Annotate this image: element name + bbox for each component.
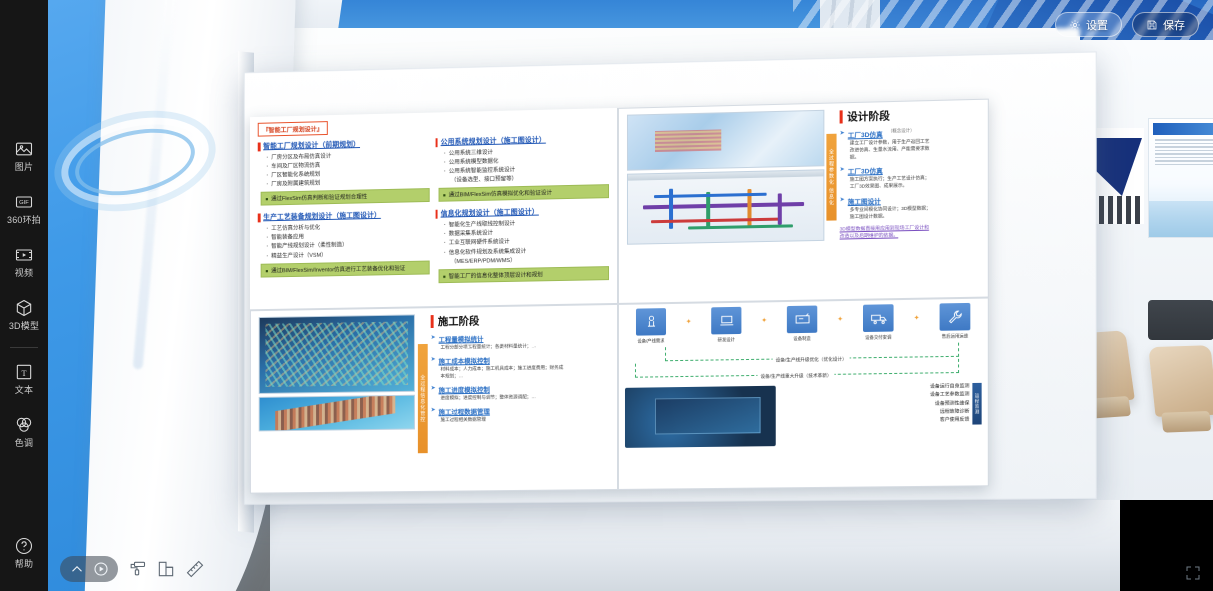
hand-gear-icon [636,308,666,336]
highlight-conclusion: 通过BIM/FlexSim/Inventor仿真进行工艺装备优化和验证 [261,260,430,277]
rail-divider [10,347,38,348]
lounge-chair [1148,345,1213,417]
quadrant-lifecycle-flow[interactable]: 设备/产线需求 ✦ 研发设计 ✦ 设备制造 ✦ [618,298,989,490]
wrench-icon [940,303,971,331]
flow-node[interactable]: 设备/产线需求 [629,308,673,345]
plus-icon: ✦ [686,318,692,326]
block-smart-factory-planning[interactable]: 智能工厂规划设计（前期规划） 厂房分区及布局仿真设计 车间及厂区物流仿真 厂区智… [258,138,429,206]
block-heading: 信息化规划设计（施工图设计） [441,207,539,219]
accent-bar [258,213,261,222]
pipe-network-graphic [632,178,819,239]
design-step: ➤ 施工图设计 多专业间模化协同设计；3D模型数据；施工图设计数据。 [840,194,934,220]
bullet-list: 厂房分区及布局仿真设计 车间及厂区物流仿真 厂区智能化系统规划 厂房及附属建筑规… [266,151,429,191]
sidebar-item-label: 色调 [0,439,48,448]
wall-poster-document [1148,118,1213,238]
arrow-icon: ➤ [431,386,436,392]
flow-node[interactable]: 设备交付安调 [856,304,901,341]
step-body: 材料成本；人力成本；施工机具成本；施工进度费用；财务成本规划；… [441,364,568,380]
settings-button[interactable]: 设置 [1055,12,1122,37]
feedback-loop-optimize: 设备/生产线升级优化（优化设计） [665,343,959,362]
construction-step: ➤ 施工过程数据管理 施工过程相关数据管理 [431,405,568,424]
block-production-equipment-planning[interactable]: 生产工艺装备规划设计（施工图设计） 工艺仿真分析与优化 智能装备应用 智能产线规… [258,209,429,286]
block-informatization-planning[interactable]: 信息化规划设计（施工图设计） 智能化生产线取线控制设计 数据采集系统设计 工业互… [435,205,609,282]
sidebar-item-label: 文本 [0,386,48,395]
arrow-icon: ➤ [431,335,436,341]
design-stage-footnote: 3D模型数据直接用应用到现场工厂设计和改造以及后期维护的依据。 [840,224,934,240]
help-icon [14,536,34,556]
arrow-icon: ➤ [431,357,436,363]
block-heading: 生产工艺装备规划设计（施工图设计） [263,210,381,222]
side-tab-label: 全过程信息化管控 [418,344,428,453]
sidebar-item-label: 图片 [0,163,48,172]
loop-label: 设备/生产线重大升级（技术革新） [757,373,834,380]
bim-structure-render [259,314,415,394]
navigation-pod[interactable] [60,556,118,582]
monitoring-side-tab: 运程监测 [972,383,981,425]
pipe-cad-render [627,169,824,245]
save-label: 保存 [1163,17,1185,33]
arrow-icon: ➤ [431,408,436,414]
block-heading: 公用系统规划设计（施工图设计） [441,135,546,147]
stage-title: 设计阶段 [847,108,890,124]
design-step: ➤ 工厂3D仿真 施工图方案执行；生产工艺设计仿真；工厂3D效果图、成果展示。 [840,164,934,191]
construction-step: ➤ 工程量模拟统计 工程分部分项工程量统计；各类材料量统计；… [431,332,568,351]
ruler-icon[interactable] [185,559,205,579]
play-circle-icon[interactable] [92,560,110,578]
sidebar-item-3dmodel[interactable]: 3D模型 [0,287,48,340]
accent-bar [435,210,438,219]
plus-icon: ✦ [761,316,767,324]
flow-node-caption: 设备制造 [780,336,825,343]
accent-bar [840,110,843,123]
truck-icon [863,304,894,332]
roller-icon[interactable] [127,559,147,579]
flow-node[interactable]: 设备制造 [780,305,825,342]
bullet-list: 智能化生产线取线控制设计 数据采集系统设计 工业互联网硬件系统设计 信息化软件规… [444,218,609,266]
hall-floor [160,490,1120,591]
svg-text:T: T [21,369,26,378]
site-layout-render [259,395,415,431]
settings-label: 设置 [1086,17,1108,33]
step-body: 进度模拟；进度控制与调节；整体资源调配；… [441,393,568,402]
highlight-conclusion: 通过FlexSim仿真判断和验证规划合理性 [261,188,430,206]
poster-header-bar [1153,123,1213,135]
construction-step: ➤ 施工成本模拟控制 材料成本；人力成本；施工机具成本；施工进度费用；财务成本规… [431,354,568,380]
chevron-up-icon[interactable] [68,560,86,578]
exhibit-table [1148,300,1213,340]
quadrant-construction-stage[interactable]: 全过程信息化管控 施工阶段 ➤ 工程量模拟统计 工程分部分项工程量统计；各类材料… [250,304,618,494]
step-body: 施工图方案执行；生产工艺设计仿真；工厂3D效果图、成果展示。 [850,174,934,190]
monitor-item: 设备预测性维保 [930,400,969,409]
monitor-item: 客户使用反馈 [930,417,969,426]
accent-bar [435,138,438,147]
block-heading: 智能工厂规划设计（前期规划） [263,139,360,151]
step-body: 工程分部分项工程量统计；各类材料量统计；… [441,342,568,351]
lifecycle-node-row: 设备/产线需求 ✦ 研发设计 ✦ 设备制造 ✦ [625,303,982,345]
sidebar-item-image[interactable]: 图片 [0,128,48,181]
feedback-loop-upgrade: 设备/生产线重大升级（技术革新） [635,359,959,378]
image-icon [14,139,34,159]
block-utility-system-planning[interactable]: 公用系统规划设计（施工图设计） 公用系统三维设计 公用系统模型数据化 公用系统智… [435,133,609,202]
monitoring-list: 设备运行自身监测 设备工艺参数监测 设备预测性维保 远程故障诊断 客户使用反馈 [930,383,969,425]
cube-icon [14,298,34,318]
accent-bar [431,315,434,328]
vr-editor-app: 『智能工厂规划设计』 智能工厂规划设计（前期规划） 厂房分区及布局仿真设计 车间… [0,0,1213,591]
factory-3d-render [627,110,824,171]
bottom-toolbar [60,556,205,582]
arrow-icon: ➤ [840,167,845,173]
laptop-icon [711,307,741,335]
flow-node-caption: 研发设计 [704,337,748,344]
highlight-conclusion: 通过BIM/FlexSim仿真模拟优化和验证设计 [438,184,609,202]
bullet-list: 工艺仿真分析与优化 智能装备应用 智能产线规划设计（柔性制造） 精益生产设计（V… [266,222,429,261]
bullet-list: 公用系统三维设计 公用系统模型数据化 公用系统智能监控系统设计 （设备选型、接口… [444,146,609,186]
design-stage-text: 全过程参数化 信息化 设计阶段 ➤ 工厂3D仿真 （概念设计） 建立工厂设计参数… [827,107,933,241]
sidebar-item-360[interactable]: GIF 360环拍 [0,181,48,234]
sidebar-item-label: 帮助 [0,560,48,569]
color-tone-icon [14,415,34,435]
flow-node-caption: 售后运用运维 [932,333,977,340]
flow-node-caption: 设备/产线需求 [629,338,673,345]
design-step: ➤ 工厂3D仿真 （概念设计） 建立工厂设计参数，用于生产返回工艺改进仿真、生量… [840,127,934,161]
step-body: 建立工厂设计参数，用于生产返回工艺改进仿真、生量水流用、产能需要求数据。 [850,137,934,161]
highlight-conclusion: 智能工厂的信息化整体顶层设计和规划 [438,266,609,283]
plus-icon: ✦ [837,315,843,323]
flow-node[interactable]: 售后运用运维 [932,303,977,340]
presentation-slide[interactable]: 『智能工厂规划设计』 智能工厂规划设计（前期规划） 厂房分区及布局仿真设计 车间… [250,99,989,494]
monitoring-list-wrap: 设备运行自身监测 设备工艺参数监测 设备预测性维保 远程故障诊断 客户使用反馈 … [782,383,982,427]
stage-title: 施工阶段 [438,313,479,329]
floorplan-icon[interactable] [156,559,176,579]
step-body: 施工过程相关数据管理 [441,415,568,424]
fullscreen-icon[interactable] [1185,565,1201,581]
construction-stage-text: 全过程信息化管控 施工阶段 ➤ 工程量模拟统计 工程分部分项工程量统计；各类材料… [419,312,567,429]
video-icon [14,245,34,265]
flow-node[interactable]: 研发设计 [704,307,748,344]
plus-icon: ✦ [914,314,920,322]
gif-icon: GIF [14,192,34,212]
accent-bar [258,142,261,151]
step-body: 多专业间模化协同设计；3D模型数据；施工图设计数据。 [850,204,934,220]
monitor-item: 设备工艺参数监测 [930,391,969,400]
construction-step: ➤ 施工进度模拟控制 进度模拟；进度控制与调节；整体资源调配；… [431,383,568,402]
poster-sky-graphic [1149,201,1213,237]
sidebar-item-label: 360环拍 [0,216,48,225]
slide-tag: 『智能工厂规划设计』 [258,121,328,137]
arrow-icon: ➤ [840,197,845,203]
quadrant-design-stage[interactable]: 全过程参数化 信息化 设计阶段 ➤ 工厂3D仿真 （概念设计） 建立工厂设计参数… [618,99,989,304]
save-icon [1146,19,1158,31]
design-stage-images [627,110,824,245]
flow-node-caption: 设备交付安调 [856,334,901,341]
monitoring-section: 设备运行自身监测 设备工艺参数监测 设备预测性维保 远程故障诊断 客户使用反馈 … [625,383,982,448]
step-note: （概念设计） [888,128,915,135]
save-button[interactable]: 保存 [1132,12,1199,37]
text-icon: T [14,362,34,382]
sidebar-item-colortone[interactable]: 色调 [0,404,48,457]
svg-text:GIF: GIF [19,200,29,206]
step-title: 施工过程数据管理 [439,406,490,417]
quadrant-planning[interactable]: 『智能工厂规划设计』 智能工厂规划设计（前期规划） 厂房分区及布局仿真设计 车间… [250,108,618,310]
construction-images [259,314,415,431]
top-action-bar: 设置 保存 [1055,12,1199,37]
sidebar-item-video[interactable]: 视频 [0,234,48,287]
left-tool-rail: 图片 GIF 360环拍 视频 3D模型 [0,0,48,591]
sidebar-item-help[interactable]: 帮助 [0,525,48,591]
gear-icon [1069,19,1081,31]
sidebar-item-text[interactable]: T 文本 [0,351,48,404]
iot-monitoring-render [625,386,776,448]
arrow-icon: ➤ [840,130,845,136]
side-tab-label: 全过程参数化 信息化 [826,134,836,221]
sidebar-item-label: 视频 [0,269,48,278]
sidebar-item-label: 3D模型 [0,322,48,331]
machine-icon [787,306,817,334]
step-title: 施工图设计 [848,195,881,206]
